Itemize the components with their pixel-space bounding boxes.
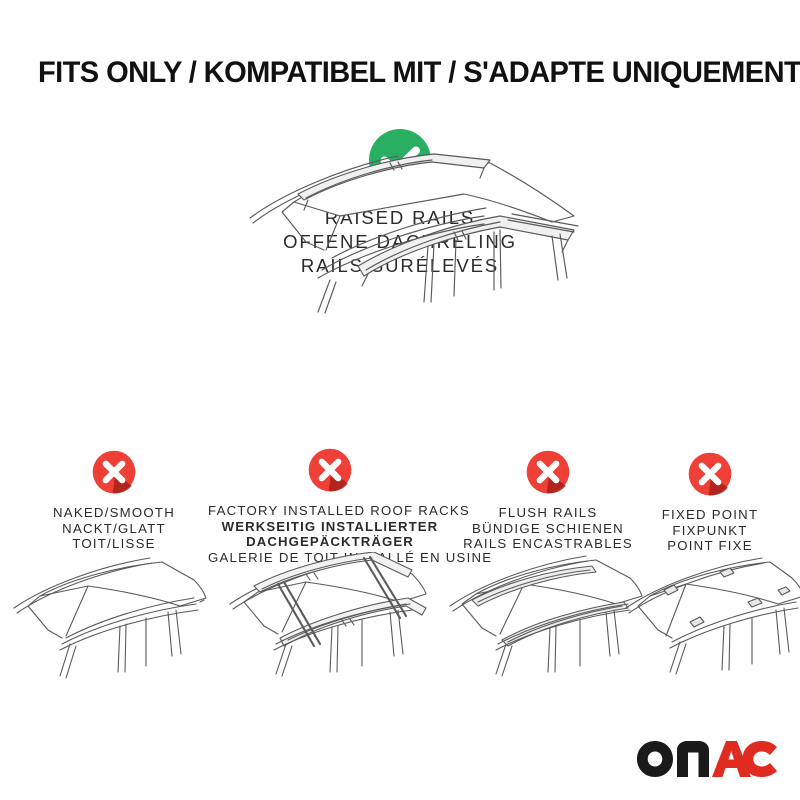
omac-logo xyxy=(636,740,778,778)
label-line-2: NACKT/GLATT xyxy=(14,521,214,537)
page-title: FITS ONLY / KOMPATIBEL MIT / S'ADAPTE UN… xyxy=(38,56,767,90)
label-line-1: FACTORY INSTALLED ROOF RACKS xyxy=(208,503,452,519)
label-line-1: FIXED POINT xyxy=(634,507,786,523)
logo-letter-m xyxy=(677,741,709,777)
cross-circle-icon xyxy=(308,448,352,492)
label-line-1: FLUSH RAILS xyxy=(452,505,644,521)
logo-letter-o xyxy=(637,741,673,777)
logo-letter-c xyxy=(743,741,778,777)
label-line-2: BÜNDIGE SCHIENEN xyxy=(452,521,644,537)
incompatible-item-flush-rails: FLUSH RAILS BÜNDIGE SCHIENEN RAILS ENCAS… xyxy=(452,450,644,552)
car-roof-with-factory-roof-rack-illustration xyxy=(214,552,444,702)
incompatible-labels: NAKED/SMOOTH NACKT/GLATT TOIT/LISSE xyxy=(14,505,214,552)
label-line-1: NAKED/SMOOTH xyxy=(14,505,214,521)
incompatible-item-naked-smooth: NAKED/SMOOTH NACKT/GLATT TOIT/LISSE xyxy=(14,450,214,552)
incompatible-item-fixed-point: FIXED POINT FIXPUNKT POINT FIXE xyxy=(634,452,786,554)
incompatible-item-factory-roof-racks: FACTORY INSTALLED ROOF RACKS WERKSEITIG … xyxy=(208,448,452,565)
car-roof-with-raised-rails-illustration xyxy=(222,150,582,315)
car-roof-with-fixed-points-illustration xyxy=(616,552,800,702)
car-roof-naked-smooth-illustration xyxy=(4,552,214,702)
label-line-3: RAILS ENCASTRABLES xyxy=(452,536,644,552)
cross-circle-icon xyxy=(688,452,732,496)
label-line-2: WERKSEITIG INSTALLIERTER xyxy=(208,519,452,535)
cross-circle-icon xyxy=(526,450,570,494)
label-line-3: TOIT/LISSE xyxy=(14,536,214,552)
cross-circle-icon xyxy=(92,450,136,494)
label-line-3: DACHGEPÄCKTRÄGER xyxy=(208,534,452,550)
label-line-2: FIXPUNKT xyxy=(634,523,786,539)
incompatible-labels: FLUSH RAILS BÜNDIGE SCHIENEN RAILS ENCAS… xyxy=(452,505,644,552)
incompatible-labels: FIXED POINT FIXPUNKT POINT FIXE xyxy=(634,507,786,554)
